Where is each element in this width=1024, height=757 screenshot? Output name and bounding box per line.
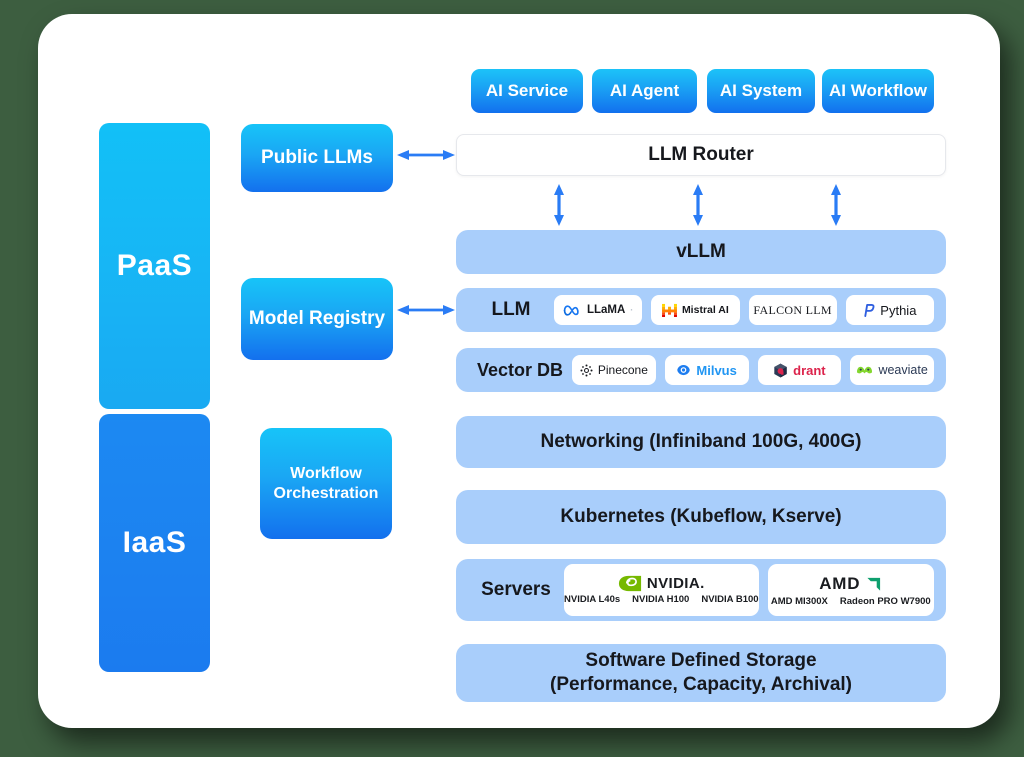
box-label-workflow-orchestration: Workflow Orchestration [274,464,379,503]
nvidia-model-2: NVIDIA B100 [701,594,758,605]
band-vllm: vLLM [456,230,946,274]
milvus-eye-icon [676,363,691,377]
button-label-ai-workflow: AI Workflow [829,81,927,101]
chip-falcon-llm[interactable]: FALCON LLM [749,295,837,325]
pillar-label-paas: PaaS [117,249,192,283]
band-label-networking: Networking (Infiniband 100G, 400G) [541,430,862,454]
row-llm: LLM LLaMA · [456,288,946,332]
chip-label-weaviate: weaviate [878,363,927,377]
pythia-p-icon [863,304,875,317]
service-pillar-paas: PaaS [99,123,210,409]
box-label-public-llms: Public LLMs [261,146,373,169]
nvidia-model-list: NVIDIA L40s NVIDIA H100 NVIDIA B100 [564,594,759,605]
amd-brandline: AMD [819,574,882,594]
vectordb-chip-list: Pinecone Milvus drant [572,355,934,385]
button-ai-workflow[interactable]: AI Workflow [822,69,934,113]
button-ai-agent[interactable]: AI Agent [592,69,697,113]
box-public-llms[interactable]: Public LLMs [241,124,393,192]
chip-label-pythia: Pythia [880,303,916,318]
band-llm-router: LLM Router [456,134,946,176]
band-networking: Networking (Infiniband 100G, 400G) [456,416,946,468]
band-kubernetes: Kubernetes (Kubeflow, Kserve) [456,490,946,544]
amd-model-list: AMD MI300X Radeon PRO W7900 [771,596,931,607]
chip-label-qdrant: drant [793,363,826,378]
arrow-model-registry-to-llm [396,302,456,318]
arrow-router-to-vllm-mid [690,183,706,227]
amd-brand-label: AMD [819,574,860,594]
service-pillar-iaas: IaaS [99,414,210,672]
pillar-label-iaas: IaaS [123,526,187,560]
chip-qdrant[interactable]: drant [758,355,842,385]
weaviate-icon [856,364,873,376]
button-label-ai-system: AI System [720,81,802,101]
box-model-registry[interactable]: Model Registry [241,278,393,360]
storage-line2: (Performance, Capacity, Archival) [550,674,852,695]
band-label-kubernetes: Kubernetes (Kubeflow, Kserve) [560,505,841,529]
row-label-servers: Servers [468,579,564,601]
button-label-ai-service: AI Service [486,81,568,101]
storage-line1: Software Defined Storage [585,650,816,671]
chip-label-falcon-llm: FALCON LLM [753,303,831,318]
chip-mistral-ai[interactable]: Mistral AI [651,295,739,325]
qdrant-cube-icon [773,363,788,378]
row-label-llm: LLM [468,299,554,321]
chip-pinecone[interactable]: Pinecone [572,355,656,385]
box-label-model-registry: Model Registry [249,307,385,330]
nvidia-model-0: NVIDIA L40s [564,594,620,605]
band-software-defined-storage: Software Defined Storage (Performance, C… [456,644,946,702]
servers-card-list: NVIDIA. NVIDIA L40s NVIDIA H100 NVIDIA B… [564,564,934,616]
chip-label-mistral-ai: Mistral AI [682,304,729,316]
chip-weaviate[interactable]: weaviate [850,355,934,385]
amd-model-0: AMD MI300X [771,596,828,607]
chip-label-pinecone: Pinecone [598,363,648,377]
pinecone-icon [580,364,593,377]
amd-arrow-icon [865,576,882,592]
nvidia-brand-label: NVIDIA. [647,575,705,592]
meta-infinity-icon [563,304,582,317]
chip-label-milvus: Milvus [696,363,736,378]
chip-suffix-llama: · [630,305,633,315]
button-ai-system[interactable]: AI System [707,69,815,113]
band-label-storage: Software Defined Storage (Performance, C… [550,649,852,697]
arrow-public-llms-to-router [396,147,456,163]
box-workflow-orchestration[interactable]: Workflow Orchestration [260,428,392,539]
row-servers: Servers NVIDIA. NVIDIA L40s NVIDIA H100 … [456,559,946,621]
row-vector-db: Vector DB Pinecone [456,348,946,392]
row-label-vector-db: Vector DB [468,360,572,381]
chip-pythia[interactable]: Pythia [846,295,934,325]
button-ai-service[interactable]: AI Service [471,69,583,113]
band-label-llm-router: LLM Router [648,144,754,166]
chip-llama[interactable]: LLaMA · [554,295,642,325]
arrow-router-to-vllm-left [551,183,567,227]
band-label-vllm: vLLM [676,240,726,264]
llm-chip-list: LLaMA · Mistral AI [554,295,934,325]
chip-label-llama: LLaMA [587,304,625,316]
workflow-line1: Workflow [290,465,362,482]
button-label-ai-agent: AI Agent [610,81,679,101]
nvidia-eye-icon [618,575,642,592]
card-nvidia[interactable]: NVIDIA. NVIDIA L40s NVIDIA H100 NVIDIA B… [564,564,759,616]
arrow-router-to-vllm-right [828,183,844,227]
nvidia-model-1: NVIDIA H100 [632,594,689,605]
card-amd[interactable]: AMD AMD MI300X Radeon PRO W7900 [768,564,934,616]
chip-milvus[interactable]: Milvus [665,355,749,385]
amd-model-1: Radeon PRO W7900 [840,596,931,607]
nvidia-brandline: NVIDIA. [618,575,705,592]
workflow-line2: Orchestration [274,485,379,502]
diagram-canvas: PaaS IaaS Public LLMs Model Registry Wor… [0,0,1024,757]
mistral-m-icon [662,303,677,317]
